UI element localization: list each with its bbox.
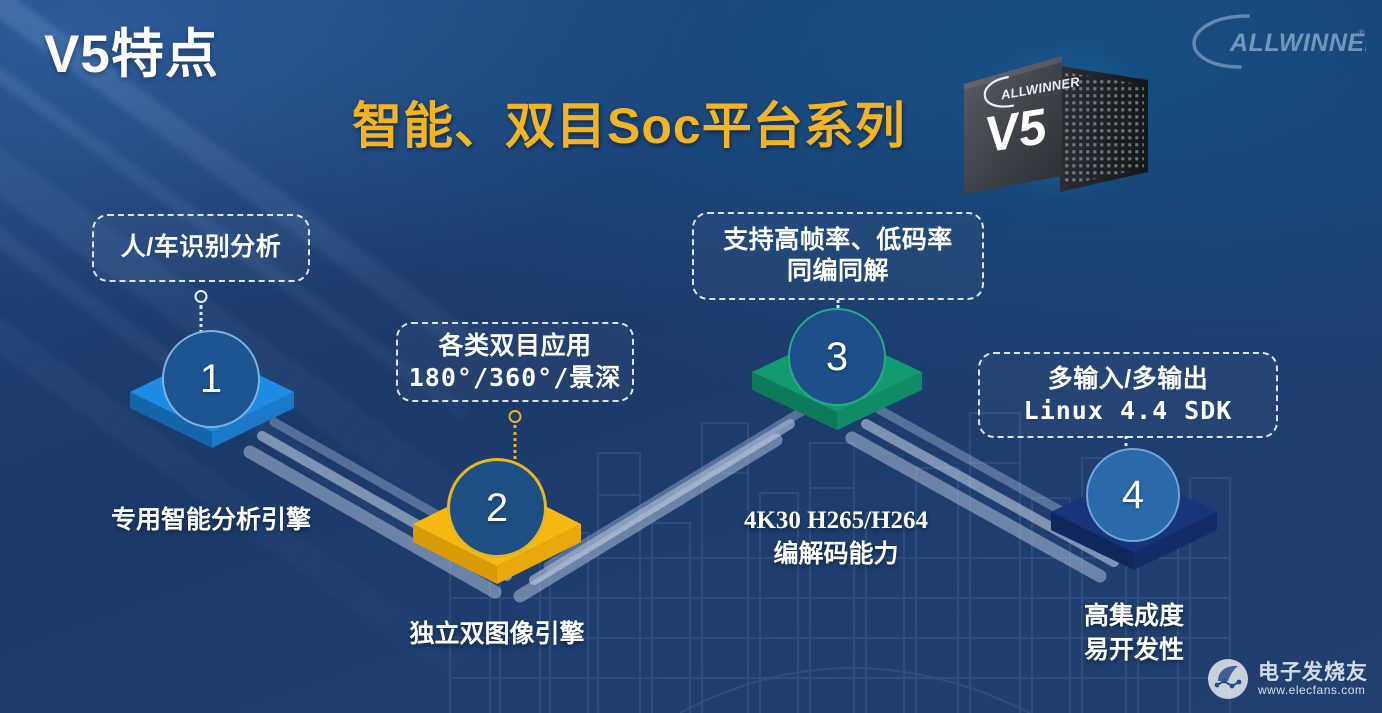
watermark: 电子发烧友 www.elecfans.com bbox=[1206, 657, 1368, 701]
callout-line: 同编同解 bbox=[787, 256, 889, 287]
node-3-number: 3 bbox=[788, 308, 886, 406]
caption-node-3: 4K30 H265/H264 编解码能力 bbox=[706, 504, 966, 572]
node-2[interactable]: 2 bbox=[405, 458, 589, 616]
node-4[interactable]: 4 bbox=[1044, 448, 1224, 600]
callout-line: 支持高帧率、低码率 bbox=[723, 225, 953, 256]
callout-line: Linux 4.4 SDK bbox=[1024, 395, 1233, 426]
page-title: V5特点 bbox=[44, 12, 219, 88]
svg-text:ALLWINNER: ALLWINNER bbox=[1229, 29, 1366, 57]
node-2-number: 2 bbox=[447, 458, 547, 558]
callout-node-1: 人/车识别分析 bbox=[92, 214, 310, 282]
node-4-number: 4 bbox=[1086, 448, 1180, 542]
allwinner-logo-icon: ALLWINNER ® bbox=[1188, 10, 1366, 72]
svg-text:V5: V5 bbox=[981, 98, 1051, 163]
callout-line: 180°/360°/景深 bbox=[409, 362, 622, 393]
callout-node-2: 各类双目应用 180°/360°/景深 bbox=[396, 322, 634, 402]
slide-root: V5特点 智能、双目Soc平台系列 ALLWINNER ® bbox=[0, 0, 1382, 713]
v5-chip-image: ALLWINNER V5 bbox=[952, 44, 1162, 204]
callout-line: 多输入/多输出 bbox=[1048, 364, 1208, 395]
callout-line: 人/车识别分析 bbox=[121, 232, 281, 263]
watermark-name: 电子发烧友 bbox=[1258, 662, 1368, 684]
watermark-url: www.elecfans.com bbox=[1258, 684, 1368, 697]
node-1[interactable]: 1 bbox=[124, 330, 300, 480]
callout-node-4: 多输入/多输出 Linux 4.4 SDK bbox=[978, 352, 1278, 438]
leader-node-2 bbox=[492, 410, 538, 460]
caption-node-1: 专用智能分析引擎 bbox=[66, 504, 356, 538]
headline: 智能、双目Soc平台系列 bbox=[352, 86, 906, 158]
elecfans-logo-icon bbox=[1206, 657, 1250, 701]
svg-text:®: ® bbox=[1358, 28, 1365, 38]
node-1-number: 1 bbox=[162, 330, 260, 428]
callout-line: 各类双目应用 bbox=[438, 331, 591, 362]
node-3[interactable]: 3 bbox=[744, 308, 930, 460]
callout-node-3: 支持高帧率、低码率 同编同解 bbox=[692, 212, 984, 300]
caption-node-2: 独立双图像引擎 bbox=[352, 618, 642, 652]
